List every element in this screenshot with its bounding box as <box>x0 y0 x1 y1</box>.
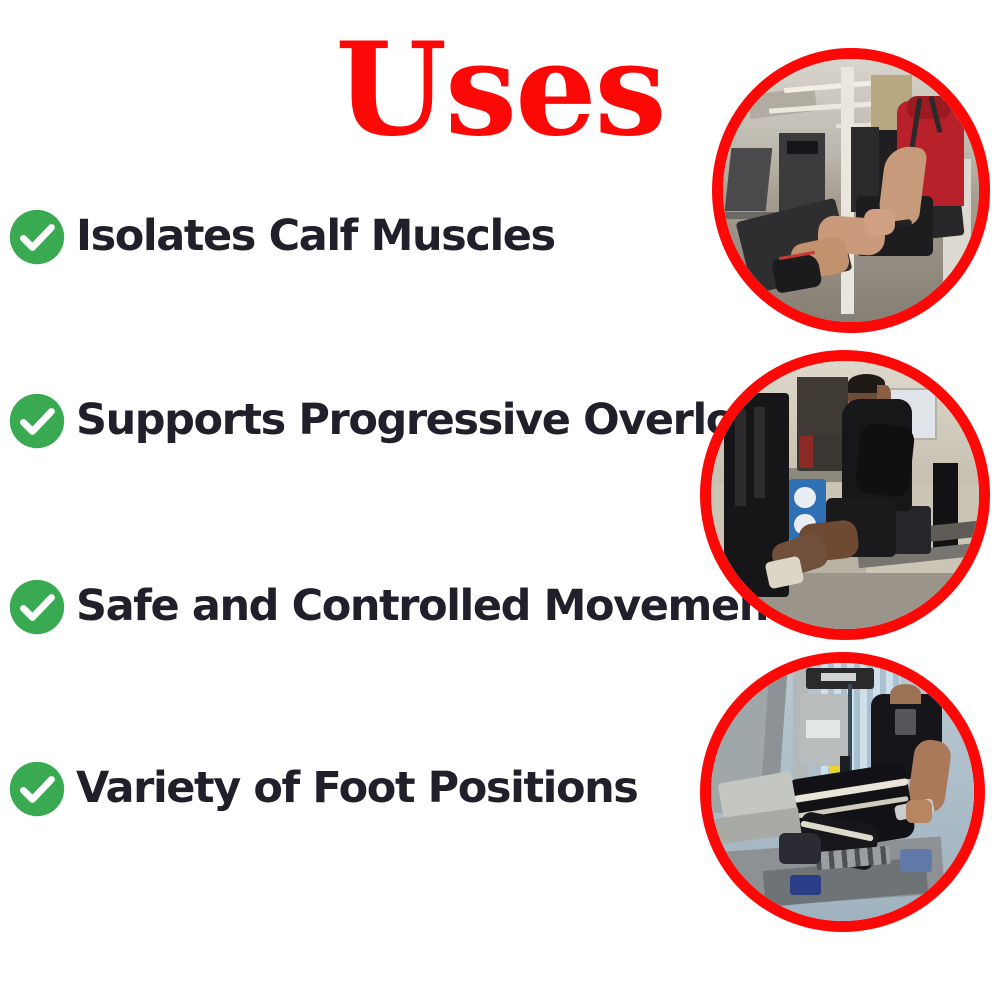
bullet-item-2: Supports Progressive Overload <box>8 392 791 450</box>
check-circle-icon <box>8 578 66 636</box>
photo-calf-press-black-outfit <box>700 350 990 640</box>
bullet-label-1: Isolates Calf Muscles <box>76 214 555 259</box>
bullet-label-4: Variety of Foot Positions <box>76 766 638 811</box>
infographic-canvas: Uses Isolates Calf Muscles Supports Prog… <box>0 0 1000 1000</box>
check-circle-icon <box>8 392 66 450</box>
photo-leg-press-track-pants <box>700 652 985 932</box>
check-circle-icon <box>8 760 66 818</box>
bullet-item-1: Isolates Calf Muscles <box>8 208 555 266</box>
page-title: Uses <box>0 26 1000 154</box>
bullet-label-3: Safe and Controlled Movement <box>76 584 787 629</box>
bullet-item-4: Variety of Foot Positions <box>8 760 638 818</box>
bullet-label-2: Supports Progressive Overload <box>76 398 791 443</box>
check-circle-icon <box>8 208 66 266</box>
photo-scene <box>711 361 979 629</box>
photo-scene <box>711 663 974 921</box>
bullet-item-3: Safe and Controlled Movement <box>8 578 787 636</box>
